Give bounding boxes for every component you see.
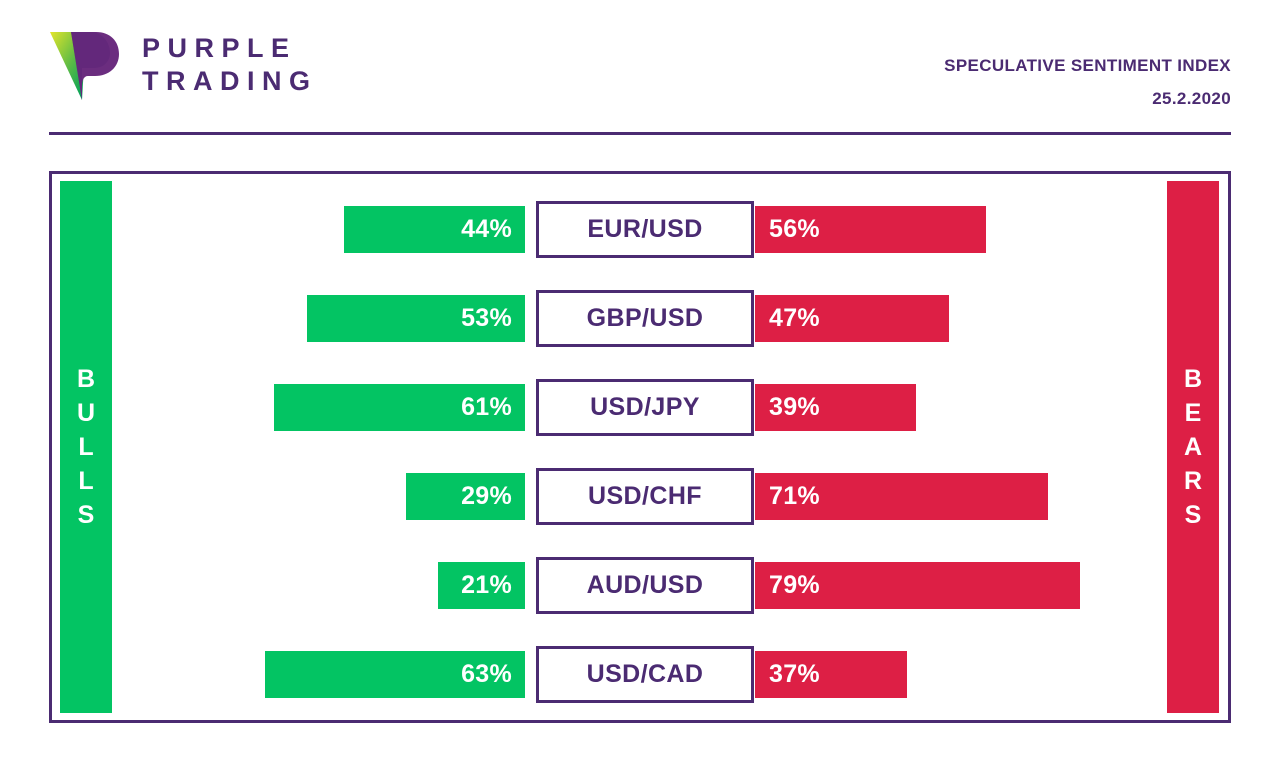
- currency-pair-label[interactable]: USD/JPY: [536, 379, 754, 436]
- bulls-value: 44%: [461, 215, 512, 244]
- bulls-bar: 63%: [265, 651, 525, 698]
- currency-pair-text: AUD/USD: [587, 571, 704, 600]
- bulls-bar: 53%: [307, 295, 525, 342]
- bears-bar: 47%: [755, 295, 949, 342]
- sentiment-chart-frame: BULLS BEARS 44%56%EUR/USD53%47%GBP/USD61…: [49, 171, 1231, 723]
- sentiment-row: 21%79%AUD/USD: [52, 554, 1228, 643]
- bulls-value: 63%: [461, 660, 512, 689]
- sentiment-row: 63%37%USD/CAD: [52, 643, 1228, 732]
- currency-pair-label[interactable]: USD/CAD: [536, 646, 754, 703]
- bears-bar: 71%: [755, 473, 1048, 520]
- bulls-bar: 21%: [438, 562, 525, 609]
- currency-pair-text: USD/CAD: [587, 660, 704, 689]
- currency-pair-label[interactable]: EUR/USD: [536, 201, 754, 258]
- currency-pair-label[interactable]: AUD/USD: [536, 557, 754, 614]
- brand-wordmark: PURPLE TRADING: [142, 34, 318, 96]
- sentiment-row: 53%47%GBP/USD: [52, 287, 1228, 376]
- bulls-bar: 29%: [406, 473, 525, 520]
- bears-bar: 39%: [755, 384, 916, 431]
- bears-bar: 56%: [755, 206, 986, 253]
- bears-value: 37%: [769, 660, 820, 689]
- sentiment-index-page: PURPLE TRADING SPECULATIVE SENTIMENT IND…: [0, 0, 1280, 780]
- bears-value: 39%: [769, 393, 820, 422]
- report-date: 25.2.2020: [944, 89, 1231, 109]
- brand-wordmark-line1: PURPLE: [142, 34, 318, 63]
- bulls-value: 29%: [461, 482, 512, 511]
- bears-value: 71%: [769, 482, 820, 511]
- bulls-value: 61%: [461, 393, 512, 422]
- page-title: SPECULATIVE SENTIMENT INDEX: [944, 56, 1231, 76]
- header-divider: [49, 132, 1231, 135]
- bears-bar: 79%: [755, 562, 1080, 609]
- bulls-value: 21%: [461, 571, 512, 600]
- currency-pair-label[interactable]: USD/CHF: [536, 468, 754, 525]
- bulls-value: 53%: [461, 304, 512, 333]
- bears-value: 56%: [769, 215, 820, 244]
- currency-pair-text: USD/JPY: [590, 393, 700, 422]
- sentiment-row: 44%56%EUR/USD: [52, 198, 1228, 287]
- currency-pair-label[interactable]: GBP/USD: [536, 290, 754, 347]
- purple-trading-p-mark-icon: [48, 28, 120, 102]
- currency-pair-text: EUR/USD: [587, 215, 702, 244]
- bulls-bar: 61%: [274, 384, 525, 431]
- brand-logo: PURPLE TRADING: [48, 28, 318, 102]
- bears-bar: 37%: [755, 651, 907, 698]
- bears-value: 79%: [769, 571, 820, 600]
- sentiment-row: 29%71%USD/CHF: [52, 465, 1228, 554]
- sentiment-row: 61%39%USD/JPY: [52, 376, 1228, 465]
- sentiment-rows: 44%56%EUR/USD53%47%GBP/USD61%39%USD/JPY2…: [52, 198, 1228, 732]
- page-header: PURPLE TRADING SPECULATIVE SENTIMENT IND…: [0, 0, 1280, 134]
- bears-value: 47%: [769, 304, 820, 333]
- brand-wordmark-line2: TRADING: [142, 67, 318, 96]
- currency-pair-text: GBP/USD: [587, 304, 704, 333]
- bulls-bar: 44%: [344, 206, 525, 253]
- currency-pair-text: USD/CHF: [588, 482, 702, 511]
- header-meta: SPECULATIVE SENTIMENT INDEX 25.2.2020: [944, 56, 1231, 109]
